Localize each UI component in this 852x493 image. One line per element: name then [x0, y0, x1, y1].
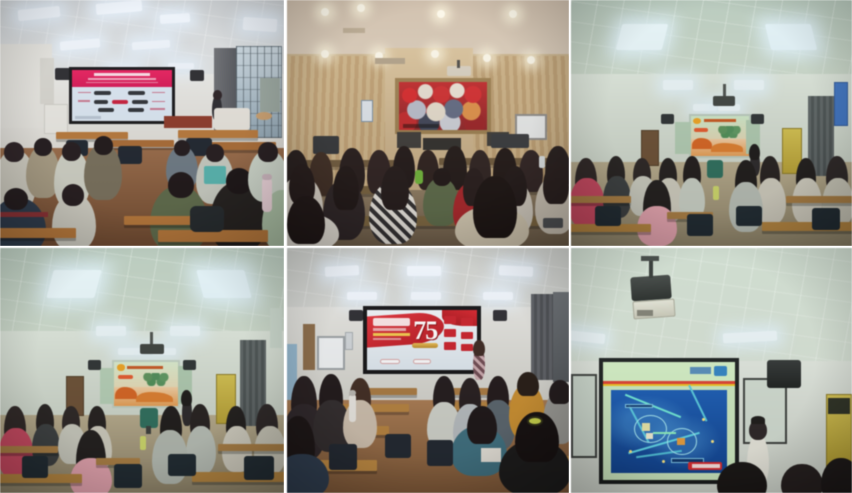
photo-collage: 75	[0, 0, 852, 493]
photo-classroom-national-day-slide: 75	[287, 248, 569, 493]
collage-panel-top-left[interactable]	[0, 0, 284, 246]
photo-auditorium-crowd-video	[287, 0, 569, 246]
collage-panel-bottom-left[interactable]	[0, 246, 284, 493]
collage-panel-top-right[interactable]	[569, 0, 852, 246]
photo-classroom-pink-slide	[0, 0, 284, 246]
collage-panel-top-center[interactable]	[284, 0, 569, 246]
photo-projector-map-slide	[571, 248, 852, 493]
photo-classroom-green-light-b	[0, 248, 284, 493]
collage-panel-bottom-center[interactable]: 75	[284, 246, 569, 493]
photo-classroom-green-light-a	[571, 0, 852, 246]
collage-panel-bottom-right[interactable]	[569, 246, 852, 493]
